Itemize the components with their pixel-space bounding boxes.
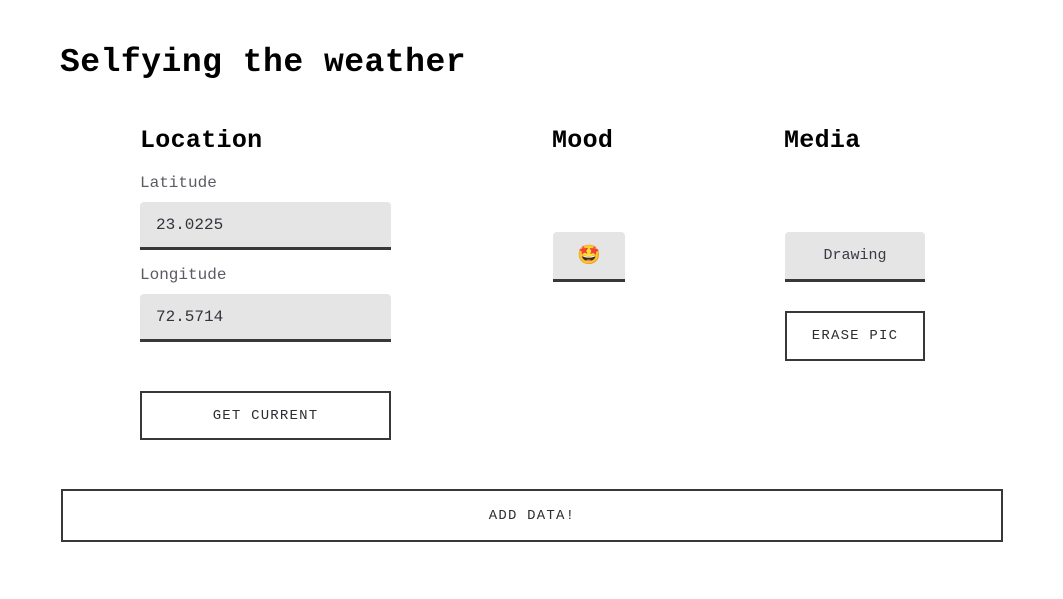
mood-select[interactable]: 🤩 xyxy=(553,232,625,282)
erase-pic-button[interactable]: ERASE PIC xyxy=(785,311,925,361)
latitude-label: Latitude xyxy=(140,172,400,194)
longitude-label: Longitude xyxy=(140,264,400,286)
mood-section: Mood xyxy=(552,126,712,156)
media-type-value: Drawing xyxy=(823,247,886,264)
longitude-value: 72.5714 xyxy=(156,308,223,326)
location-heading: Location xyxy=(140,126,400,156)
media-section: Media xyxy=(784,126,984,156)
media-heading: Media xyxy=(784,126,984,156)
location-section: Location Latitude 23.0225 Longitude 72.5… xyxy=(140,126,400,342)
latitude-value: 23.0225 xyxy=(156,216,223,234)
latitude-input[interactable]: 23.0225 xyxy=(140,202,391,250)
page-title: Selfying the weather xyxy=(60,43,466,83)
star-struck-face-icon: 🤩 xyxy=(577,246,601,265)
longitude-input[interactable]: 72.5714 xyxy=(140,294,391,342)
get-current-button[interactable]: GET CURRENT xyxy=(140,391,391,440)
add-data-button[interactable]: ADD DATA! xyxy=(61,489,1003,542)
mood-emoji-glyph: 🤩 xyxy=(577,246,601,265)
mood-heading: Mood xyxy=(552,126,712,156)
media-type-select[interactable]: Drawing xyxy=(785,232,925,282)
